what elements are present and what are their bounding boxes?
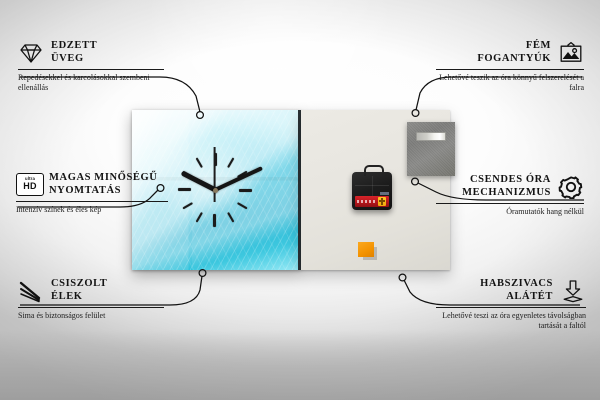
divider xyxy=(436,203,584,204)
gear-icon xyxy=(558,175,584,199)
ultra-hd-icon-main-text: HD xyxy=(23,182,36,191)
feature-silent-mechanism: CSENDES ÓRA MECHANIZMUS Óramutatók hang … xyxy=(436,174,584,217)
mechanism-seam-vertical xyxy=(372,176,373,196)
divider xyxy=(16,201,168,202)
battery-terminal xyxy=(378,197,386,206)
feature-hd-print: ultra HD MAGAS MINŐSÉGŰ NYOMTATÁS Intenz… xyxy=(16,172,168,215)
feature-title-line1: HABSZIVACS xyxy=(480,278,553,289)
feature-description: Sima és biztonságos felület xyxy=(18,311,164,321)
feature-description: Repedésekkel és karcolásokkal szembeni e… xyxy=(18,73,164,93)
feature-description: Lehetővé teszik az óra könnyű felszerelé… xyxy=(436,73,584,93)
feature-title-line1: CSISZOLT xyxy=(51,278,107,289)
battery xyxy=(355,196,389,207)
metal-hanger-plate xyxy=(407,122,455,176)
divider xyxy=(436,307,586,308)
feature-description: Intenzív színek és éles kép xyxy=(16,205,168,215)
feature-tempered-glass: EDZETT ÜVEG Repedésekkel és karcolásokka… xyxy=(18,40,164,93)
feature-title-line1: MAGAS MINŐSÉGŰ xyxy=(49,172,157,183)
wall-mount-icon xyxy=(558,41,584,65)
feature-title-line2: MECHANIZMUS xyxy=(462,187,551,198)
feature-title-line2: ÜVEG xyxy=(51,53,84,64)
mechanism-hang-loop xyxy=(364,165,384,176)
feature-foam-pad: HABSZIVACS ALÁTÉT Lehetővé teszi az óra … xyxy=(436,278,586,331)
mechanism-label xyxy=(380,192,389,195)
feature-title: CSENDES ÓRA MECHANIZMUS xyxy=(462,174,551,199)
divider xyxy=(18,307,164,308)
feature-metal-handles: FÉM FOGANTYÚK Lehetővé teszik az óra kön… xyxy=(436,40,584,93)
clock-center-cap xyxy=(213,188,218,193)
feature-description: Lehetővé teszi az óra egyenletes távolsá… xyxy=(436,311,586,331)
polished-edges-icon xyxy=(18,279,44,303)
feature-title-line1: EDZETT xyxy=(51,40,97,51)
product-photo xyxy=(132,110,450,272)
clock-second-hand xyxy=(214,147,216,202)
feature-title-line2: ALÁTÉT xyxy=(506,291,553,302)
ultra-hd-icon: ultra HD xyxy=(16,173,42,197)
feature-description: Óramutatók hang nélkül xyxy=(436,207,584,217)
feature-title-line2: ÉLEK xyxy=(51,291,83,302)
hanger-slot xyxy=(416,132,446,141)
clock-mechanism xyxy=(352,172,392,210)
feature-title-line2: FOGANTYÚK xyxy=(477,53,551,64)
foam-pad xyxy=(358,242,374,257)
diamond-icon xyxy=(18,41,44,65)
infographic-canvas: EDZETT ÜVEG Repedésekkel és karcolásokka… xyxy=(0,0,600,400)
feature-title: HABSZIVACS ALÁTÉT xyxy=(480,278,553,303)
feature-polished-edges: CSISZOLT ÉLEK Sima és biztonságos felüle… xyxy=(18,278,164,321)
divider xyxy=(18,69,164,70)
feature-title: MAGAS MINŐSÉGŰ NYOMTATÁS xyxy=(49,172,157,197)
feature-title-line2: NYOMTATÁS xyxy=(49,185,121,196)
divider xyxy=(436,69,584,70)
feature-title: EDZETT ÜVEG xyxy=(51,40,97,65)
feature-title-line1: CSENDES ÓRA xyxy=(470,174,551,185)
foam-pad-arrow-icon xyxy=(560,279,586,303)
clock-back-panel xyxy=(301,110,450,270)
feature-title: CSISZOLT ÉLEK xyxy=(51,278,107,303)
feature-title-line1: FÉM xyxy=(526,40,551,51)
feature-title: FÉM FOGANTYÚK xyxy=(477,40,551,65)
